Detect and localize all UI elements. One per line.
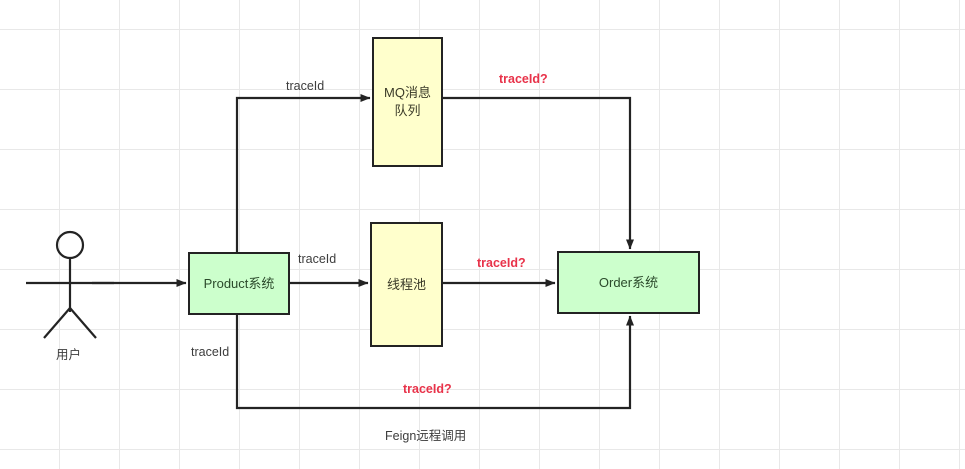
node-threadpool-label: 线程池	[387, 276, 426, 294]
node-mq-label: MQ消息 队列	[384, 84, 431, 119]
node-order-label: Order系统	[599, 274, 658, 292]
edge-label-threadpool-to-order: traceId?	[477, 256, 526, 270]
edge-label-product-feign-down: traceId	[191, 345, 229, 359]
node-product[interactable]: Product系统	[188, 252, 290, 315]
edge-mq-to-order	[443, 98, 630, 249]
edge-product-to-mq	[237, 98, 370, 252]
edge-label-product-to-mq: traceId	[286, 79, 324, 93]
node-threadpool[interactable]: 线程池	[370, 222, 443, 347]
feign-caption: Feign远程调用	[385, 425, 466, 444]
diagram-canvas: MQ消息 队列 Product系统 线程池 Order系统 traceId tr…	[0, 0, 965, 469]
node-mq-label-line1: MQ消息	[384, 84, 431, 102]
edge-label-mq-to-order: traceId?	[499, 72, 548, 86]
edge-label-product-to-threadpool: traceId	[298, 252, 336, 266]
node-mq-label-line2: 队列	[384, 102, 431, 120]
user-actor-figure	[26, 232, 114, 338]
node-mq[interactable]: MQ消息 队列	[372, 37, 443, 167]
diagram-connectors	[0, 0, 965, 469]
edge-label-product-to-order-feign: traceId?	[403, 382, 452, 396]
node-product-label: Product系统	[204, 275, 275, 293]
user-actor-label: 用户	[56, 344, 81, 363]
node-order[interactable]: Order系统	[557, 251, 700, 314]
